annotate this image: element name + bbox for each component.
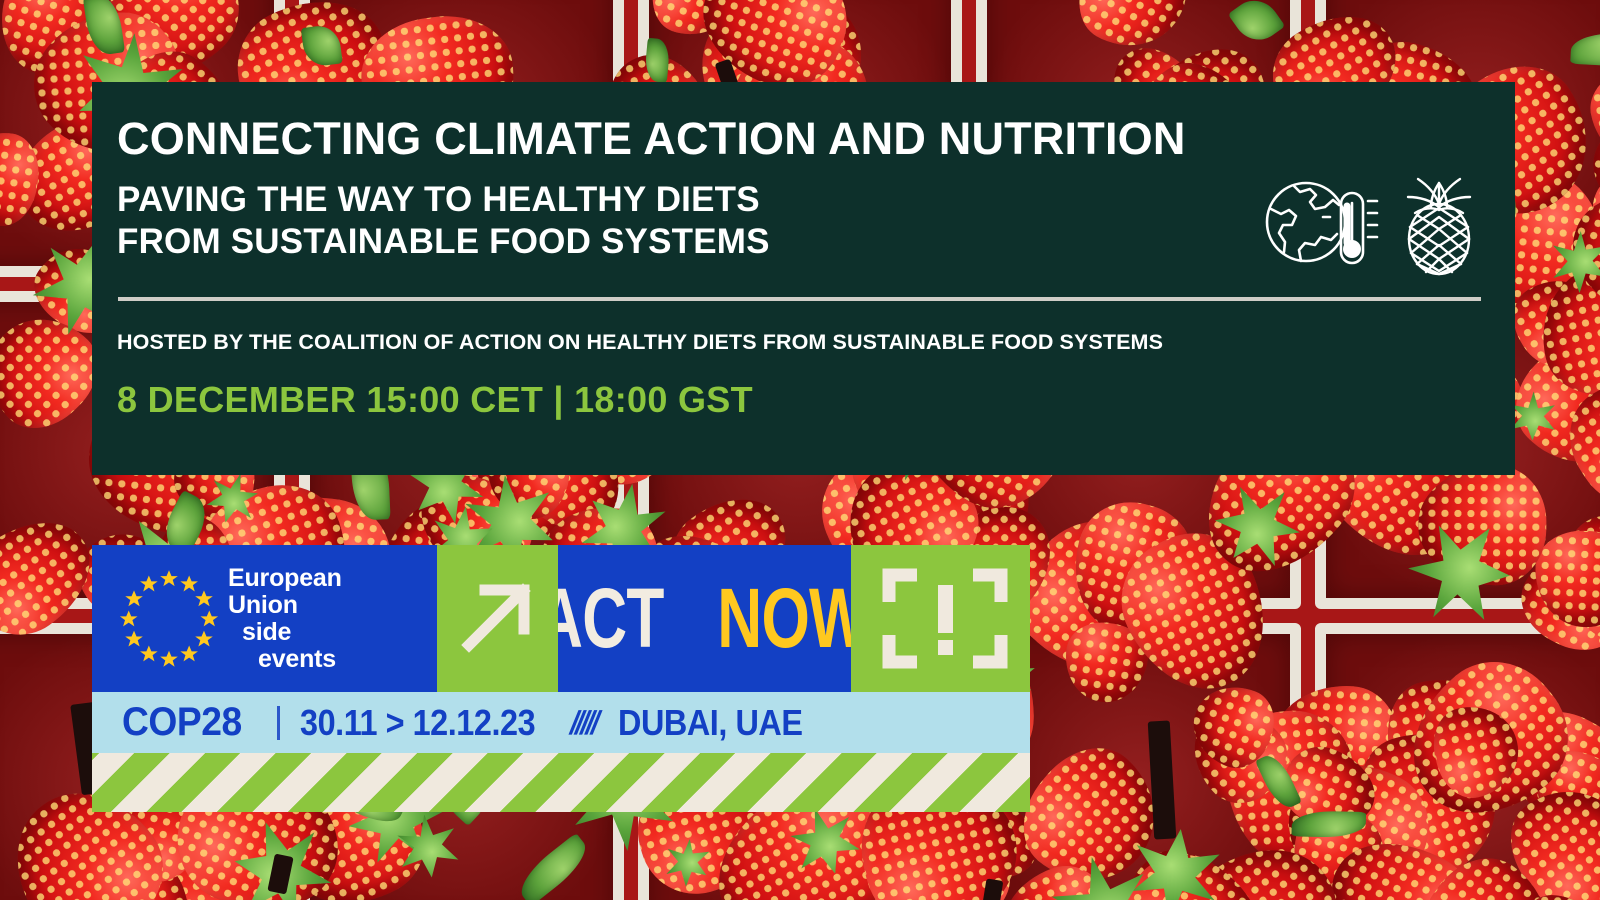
cop28-location: DUBAI, UAE (618, 702, 803, 744)
striped-footer-bar (92, 753, 1030, 812)
cop28-info-bar: COP28 30.11 > 12.12.23 ///// DUBAI, UAE (92, 692, 1030, 753)
arrow-block (437, 545, 558, 692)
cop28-slashes: ///// (566, 704, 601, 742)
logo-strip-top-row: European Union side events ACT NOW (92, 545, 1030, 692)
eu-label-line-1: European (228, 565, 342, 592)
eu-stars-icon (116, 566, 222, 672)
page-title: CONNECTING CLIMATE ACTION AND NUTRITION (117, 116, 1489, 163)
european-union-logo-block: European Union side events (92, 545, 437, 692)
cop28-dates: 30.11 > 12.12.23 (300, 702, 535, 744)
cop28-logo-strip: European Union side events ACT NOW (92, 545, 1030, 812)
hosted-by-text: HOSTED BY THE COALITION OF ACTION ON HEA… (117, 330, 1489, 355)
eu-side-events-label: European Union side events (228, 565, 342, 673)
arrow-up-right-icon (459, 577, 537, 660)
eu-label-line-2: Union (228, 592, 342, 619)
globe-thermometer-icon (1263, 173, 1381, 276)
cop28-separator (277, 706, 280, 740)
act-label: ACT (558, 582, 663, 656)
headline-banner: CONNECTING CLIMATE ACTION AND NUTRITION … (92, 82, 1515, 475)
cop28-brand: COP28 (122, 700, 242, 745)
banner-icon-group (1263, 167, 1481, 282)
banner-divider (118, 297, 1481, 301)
exclamation-block (851, 545, 1030, 692)
event-date-time: 8 DECEMBER 15:00 CET | 18:00 GST (117, 379, 1489, 421)
eu-label-line-4: events (228, 646, 342, 673)
now-label: NOW (717, 582, 851, 656)
pineapple-icon (1397, 167, 1481, 282)
exclamation-in-brackets-icon (851, 679, 1011, 696)
eu-label-line-3: side (228, 619, 342, 646)
act-now-block: ACT NOW (558, 545, 851, 692)
